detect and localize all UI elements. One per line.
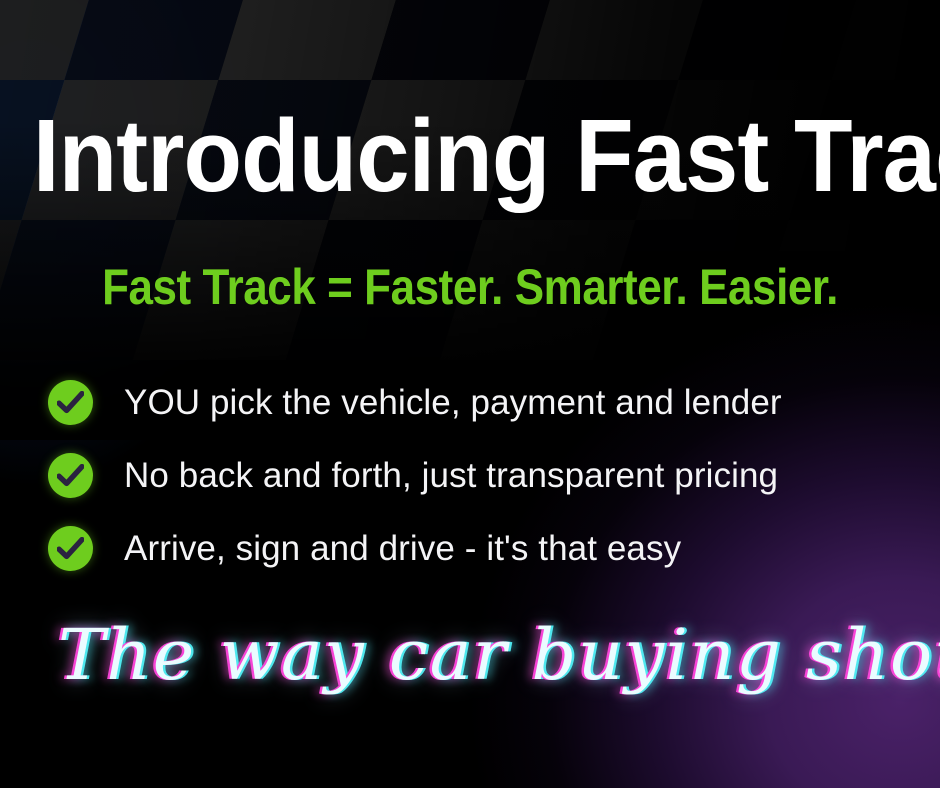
page-title: Introducing Fast Track xyxy=(33,104,907,207)
tagline: The way car buying should be. xyxy=(58,612,918,700)
list-item: Arrive, sign and drive - it's that easy xyxy=(48,522,908,574)
benefits-list: YOU pick the vehicle, payment and lender… xyxy=(48,376,908,595)
check-circle-icon xyxy=(48,453,93,498)
promo-graphic: Introducing Fast Track Fast Track = Fast… xyxy=(0,0,940,788)
list-item: YOU pick the vehicle, payment and lender xyxy=(48,376,908,428)
subtitle: Fast Track = Faster. Smarter. Easier. xyxy=(56,262,883,312)
list-item: No back and forth, just transparent pric… xyxy=(48,449,908,501)
list-item-label: Arrive, sign and drive - it's that easy xyxy=(124,531,681,566)
check-circle-icon xyxy=(48,526,93,571)
list-item-label: YOU pick the vehicle, payment and lender xyxy=(124,385,782,420)
check-circle-icon xyxy=(48,380,93,425)
list-item-label: No back and forth, just transparent pric… xyxy=(124,458,778,493)
